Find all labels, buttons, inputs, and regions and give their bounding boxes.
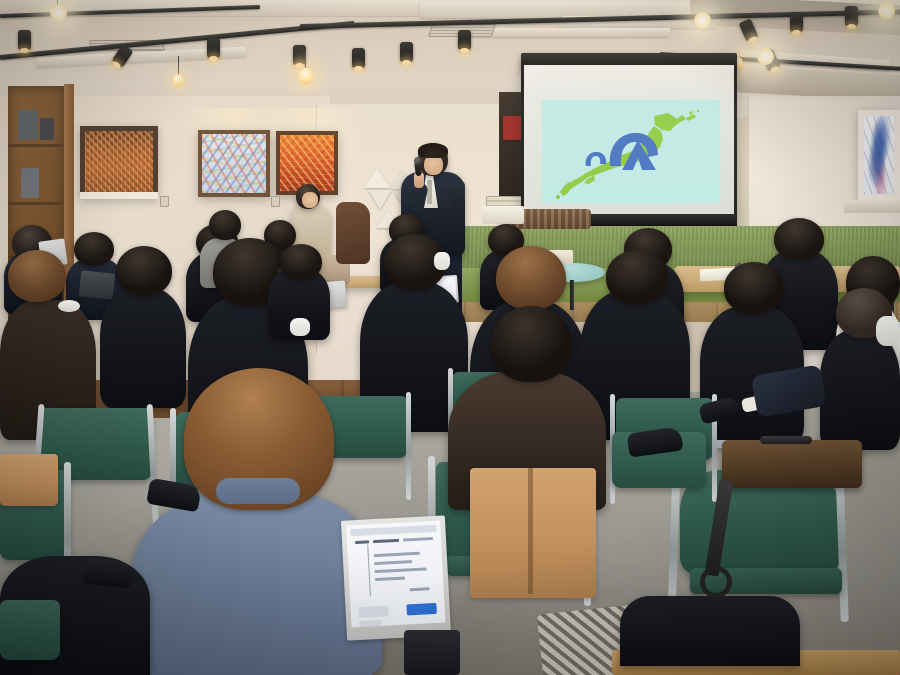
- fire-alarm-panel[interactable]: [503, 116, 522, 140]
- pendant-cord-3: [305, 50, 306, 70]
- woman-foreground-turtleneck: [216, 478, 300, 504]
- painting-far-right-canvas: [864, 116, 894, 194]
- audience-mid-2-collar: [58, 300, 80, 312]
- orange-coat-on-chair: [0, 454, 58, 506]
- speaker-tie: [427, 180, 432, 204]
- audience-mid-1-torso: [100, 288, 186, 408]
- laptop-doc-line-4: [375, 577, 405, 582]
- ceiling-duct-c: [469, 28, 671, 37]
- speaker-face: [424, 155, 443, 175]
- audience-mid-8-head: [724, 262, 784, 314]
- pendant-cord-2: [178, 56, 179, 76]
- shelf-object-box: [40, 118, 54, 140]
- panelist-face: [302, 192, 318, 208]
- leather-briefcase: [722, 440, 862, 488]
- face-mask-1: [434, 252, 450, 270]
- pendant-bulb-5[interactable]: [757, 48, 774, 65]
- audience-mid-1-head: [116, 246, 172, 296]
- spot-light-5[interactable]: [352, 48, 365, 68]
- spot-light-10[interactable]: [845, 6, 858, 26]
- pendant-bulb-3[interactable]: [299, 68, 313, 84]
- laptop-statusbar: [359, 620, 381, 627]
- laptop-doc-line-3: [375, 567, 427, 573]
- audience-grey-sweater-head: [209, 210, 241, 240]
- face-mask-3: [876, 316, 900, 346]
- seminar-room-photo: Business seminar in a gallery cafe space…: [0, 0, 900, 675]
- audience-right-1-head: [774, 218, 824, 260]
- shelf-object-cylinder: [21, 168, 39, 198]
- chair-6-frame-right: [406, 392, 411, 500]
- round-table-leg: [570, 280, 574, 310]
- audience-mid-6-head: [496, 246, 566, 310]
- chair-10-back[interactable]: [0, 600, 60, 660]
- spot-light-1[interactable]: [18, 30, 31, 50]
- foreground-laptop-screen: [346, 521, 445, 628]
- face-mask-2: [290, 318, 310, 336]
- camel-coat-draped: [470, 468, 596, 598]
- audience-mid-7-head: [606, 250, 668, 304]
- sculpture-tri-1: [364, 168, 390, 188]
- lounge-chair: [336, 202, 370, 264]
- laptop-secondary-button[interactable]: [358, 605, 389, 618]
- speaker-hair: [418, 143, 448, 158]
- japan-map-graphic: [542, 100, 720, 203]
- audience-mid-9-torso: [820, 330, 900, 450]
- painting-left-canvas: [85, 131, 153, 193]
- audience-back-2-head: [74, 232, 114, 266]
- pendant-bulb-4[interactable]: [694, 12, 711, 29]
- laptop-primary-button[interactable]: [406, 603, 437, 616]
- painting-right-canvas: [280, 135, 334, 191]
- art-ledge: [844, 200, 900, 213]
- bookcase-shelf-2: [8, 202, 66, 205]
- briefcase-strap-loop: [700, 566, 732, 598]
- pendant-bulb-6[interactable]: [878, 2, 895, 19]
- pendant-bulb-2[interactable]: [173, 74, 183, 86]
- spot-light-3[interactable]: [207, 38, 220, 58]
- bookcase-shelf-1: [8, 144, 66, 147]
- foreground-right-torso: [620, 596, 800, 666]
- person-with-camel-coat-head: [490, 306, 572, 382]
- spot-light-6[interactable]: [400, 42, 413, 62]
- briefcase-handle[interactable]: [760, 436, 812, 444]
- laptop-back-4[interactable]: [79, 270, 116, 299]
- spot-light-9[interactable]: [790, 12, 803, 32]
- painting-left-mat: [80, 192, 158, 199]
- foreground-bag: [404, 630, 460, 675]
- laptop-doc-head-2: [373, 539, 399, 543]
- laptop-doc-line-1: [374, 552, 420, 557]
- microphone-head-handheld: [414, 157, 422, 165]
- laptop-toolbar[interactable]: [350, 525, 436, 536]
- wall-socket-1[interactable]: [160, 196, 169, 207]
- foreground-laptop[interactable]: [341, 515, 451, 640]
- painting-center-canvas: [202, 134, 266, 193]
- camel-coat-fold: [528, 468, 533, 594]
- shelf-object-vessel: [18, 110, 38, 140]
- laptop-doc-margin: [367, 544, 371, 596]
- painting-far-right: [858, 110, 900, 200]
- projected-slide: [542, 100, 720, 203]
- pendant-bulb-1[interactable]: [50, 4, 67, 21]
- laptop-doc-line-5: [410, 587, 430, 591]
- spot-light-7[interactable]: [458, 30, 471, 50]
- laptop-doc-head-3: [403, 537, 433, 542]
- audience-mid-2-head: [8, 250, 66, 302]
- speaker-arm-right: [452, 180, 465, 214]
- audience-mid-5-head: [280, 244, 322, 280]
- laptop-doc-line-2: [374, 560, 412, 565]
- painting-left: [80, 126, 158, 198]
- wall-socket-2[interactable]: [271, 196, 280, 207]
- paper-stack: [482, 206, 524, 224]
- painting-center: [198, 130, 270, 197]
